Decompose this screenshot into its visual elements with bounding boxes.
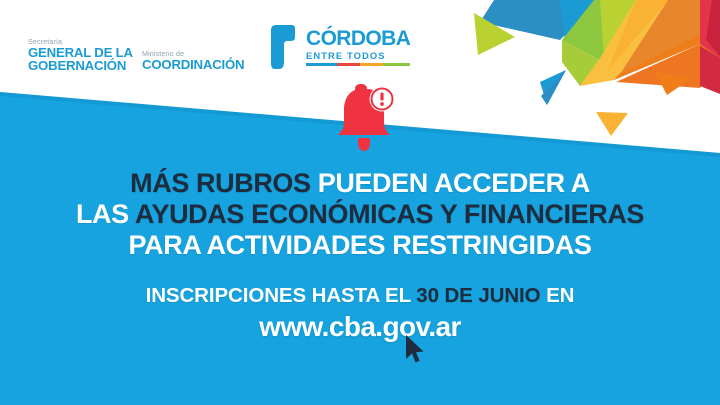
cordoba-province-map-icon: [269, 24, 299, 70]
deco-triangle-yellow-2: [608, 0, 668, 70]
subheadline-part3: EN: [541, 284, 575, 307]
headline-line3-part1: PARA ACTIVIDADES RESTRINGIDAS: [129, 230, 592, 260]
headline-line1-part2: PUEDEN ACCEDER A: [311, 168, 590, 198]
deco-triangle-red-2: [706, 0, 720, 56]
secretaria-name-line2: GOBERNACIÓN: [28, 59, 136, 72]
logo-secretaria-general: Secretaría GENERAL DE LA GOBERNACIÓN: [28, 37, 136, 72]
cordoba-color-bar: [306, 63, 410, 66]
mouse-pointer-icon: [404, 334, 426, 366]
deco-triangle-yellow-1: [580, 0, 684, 86]
headline-line1-part1: MÁS RUBROS: [130, 168, 311, 198]
headline-line-3: PARA ACTIVIDADES RESTRINGIDAS: [0, 230, 720, 261]
deco-triangle-orange-3: [616, 44, 720, 88]
deco-triangle-green-3: [562, 40, 600, 86]
deco-triangle-orange-detached: [655, 72, 692, 95]
headline-line2-part1: LAS: [76, 199, 129, 229]
deco-triangle-blue-top: [480, 0, 600, 40]
deco-triangle-red-3: [700, 46, 720, 94]
brand-logos: Secretaría GENERAL DE LA GOBERNACIÓN Min…: [28, 24, 410, 72]
deco-triangle-green-1: [562, 0, 636, 60]
exclamation-dot-icon: [380, 102, 384, 106]
headline-line-2: LAS AYUDAS ECONÓMICAS Y FINANCIERAS: [0, 199, 720, 230]
deco-triangle-red-1: [700, 0, 720, 58]
deco-triangle-yellow-detached: [596, 112, 628, 136]
subheadline: INSCRIPCIONES HASTA EL 30 DE JUNIO EN: [0, 284, 720, 308]
logo-ministerio-coordinacion: Ministerio de COORDINACIÓN: [142, 49, 247, 73]
exclamation-icon: [380, 93, 383, 101]
subheadline-part1: INSCRIPCIONES HASTA EL: [146, 284, 417, 307]
deco-triangle-blue-top-b: [560, 0, 600, 42]
ministerio-name: COORDINACIÓN: [142, 58, 247, 72]
logo-cordoba-entre-todos: CÓRDOBA ENTRE TODOS: [269, 24, 410, 72]
promotional-poster: Secretaría GENERAL DE LA GOBERNACIÓN Min…: [0, 0, 720, 405]
cordoba-subtitle: ENTRE TODOS: [306, 50, 410, 61]
deco-triangle-lime-detached: [474, 13, 515, 55]
deco-triangle-orange-2: [620, 0, 700, 74]
bell-clapper: [358, 138, 370, 151]
website-url[interactable]: www.cba.gov.ar: [0, 311, 720, 343]
headline-line-1: MÁS RUBROS PUEDEN ACCEDER A: [0, 168, 720, 199]
headline: MÁS RUBROS PUEDEN ACCEDER A LAS AYUDAS E…: [0, 168, 720, 261]
headline-line2-part2: AYUDAS ECONÓMICAS Y FINANCIERAS: [129, 199, 644, 229]
subheadline-deadline: 30 DE JUNIO: [416, 284, 540, 307]
deco-triangle-green-2: [600, 0, 640, 58]
deco-triangle-orange-1: [614, 0, 700, 80]
deco-triangle-blue-detached: [540, 70, 566, 105]
bell-alert-icon: [330, 82, 398, 152]
deco-triangle-blue-detached-b: [541, 70, 566, 105]
cordoba-title: CÓRDOBA: [306, 28, 410, 49]
